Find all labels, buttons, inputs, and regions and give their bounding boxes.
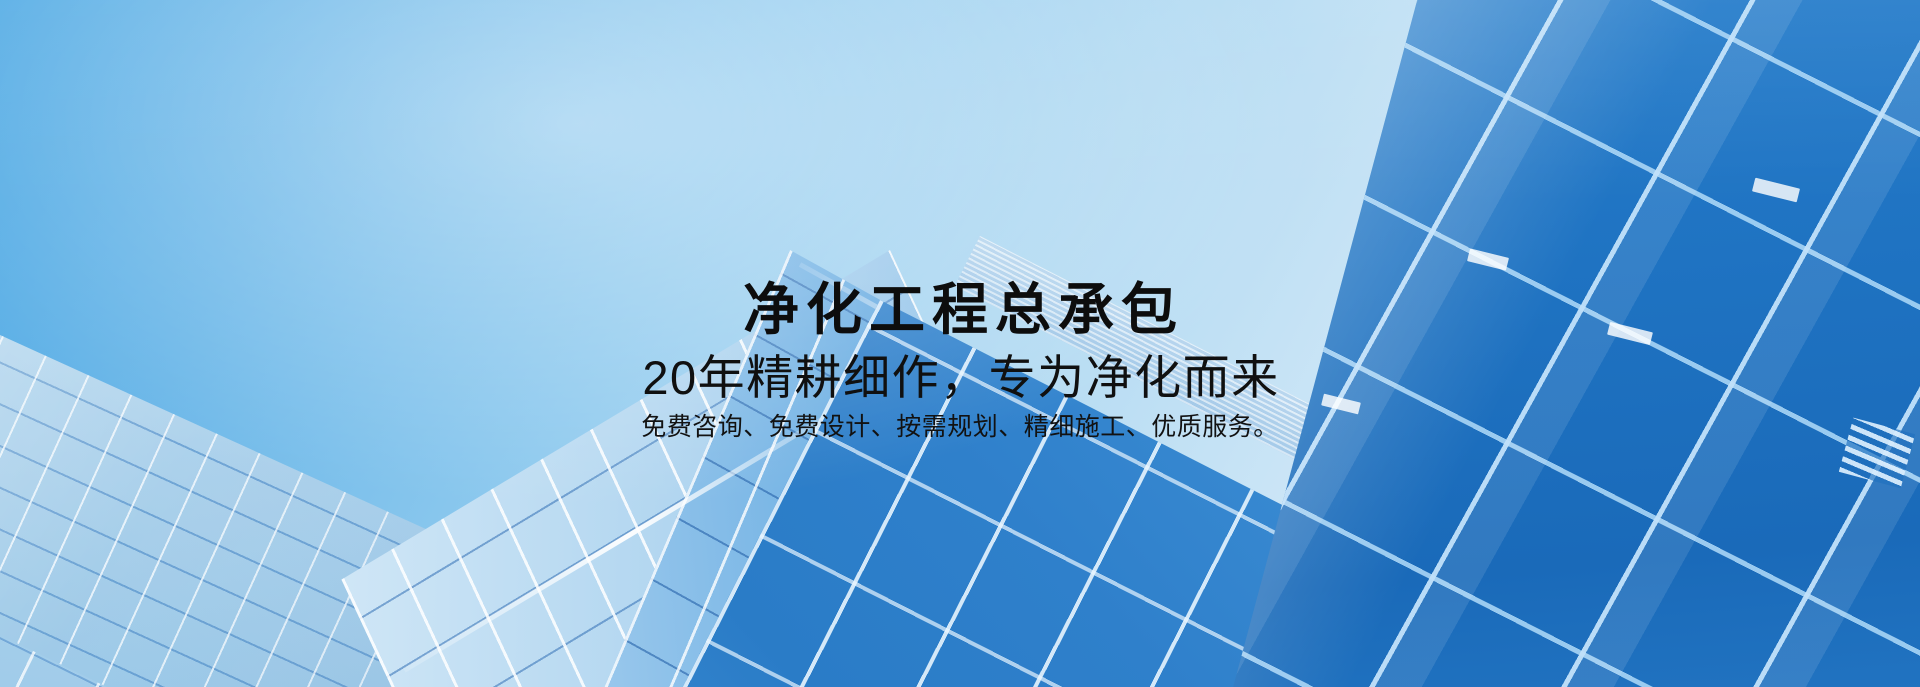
background-photo	[0, 0, 1920, 687]
right-tower-glass-reflection	[1160, 0, 1920, 687]
hero-banner: 净化工程总承包 20年精耕细作，专为净化而来 免费咨询、免费设计、按需规划、精细…	[0, 0, 1920, 687]
